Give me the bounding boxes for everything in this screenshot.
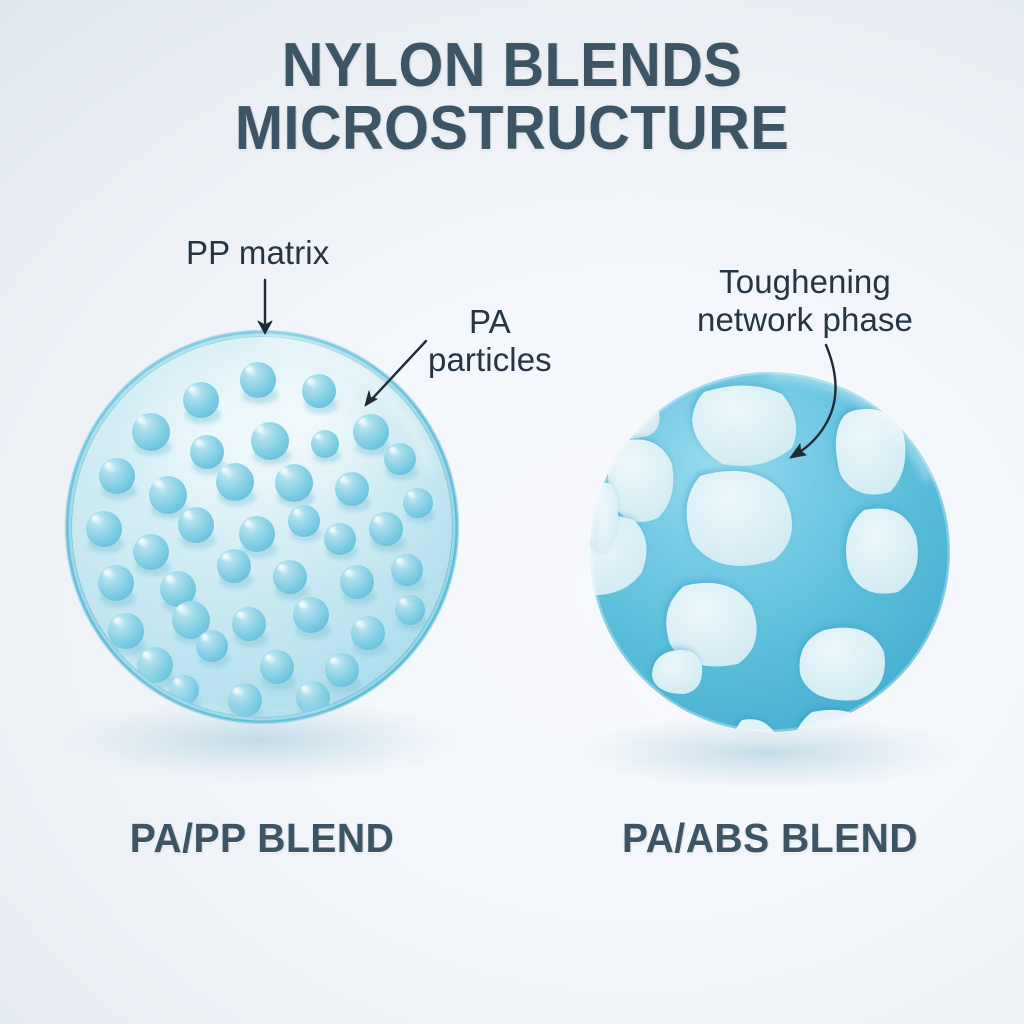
left-sphere-pa-pp-blend [66, 331, 458, 723]
cell [800, 628, 885, 701]
caption-pa-abs-blend: PA/ABS BLEND [580, 815, 960, 862]
annotation-pp-matrix: PP matrix [186, 234, 329, 272]
cell [509, 584, 594, 659]
cell [912, 676, 928, 720]
cell [846, 508, 918, 593]
annotation-toughening-network-phase: Toughening network phase [640, 263, 970, 338]
cell [604, 672, 620, 716]
pp-matrix-arrow [258, 280, 272, 334]
infographic-canvas: NYLON BLENDS MICROSTRUCTURE [0, 0, 1024, 1024]
caption-pa-pp-blend: PA/PP BLEND [72, 815, 452, 862]
microstructure-illustration [0, 0, 1024, 1024]
cell [511, 421, 589, 499]
annotation-pa-particles: PA particles [428, 303, 552, 378]
